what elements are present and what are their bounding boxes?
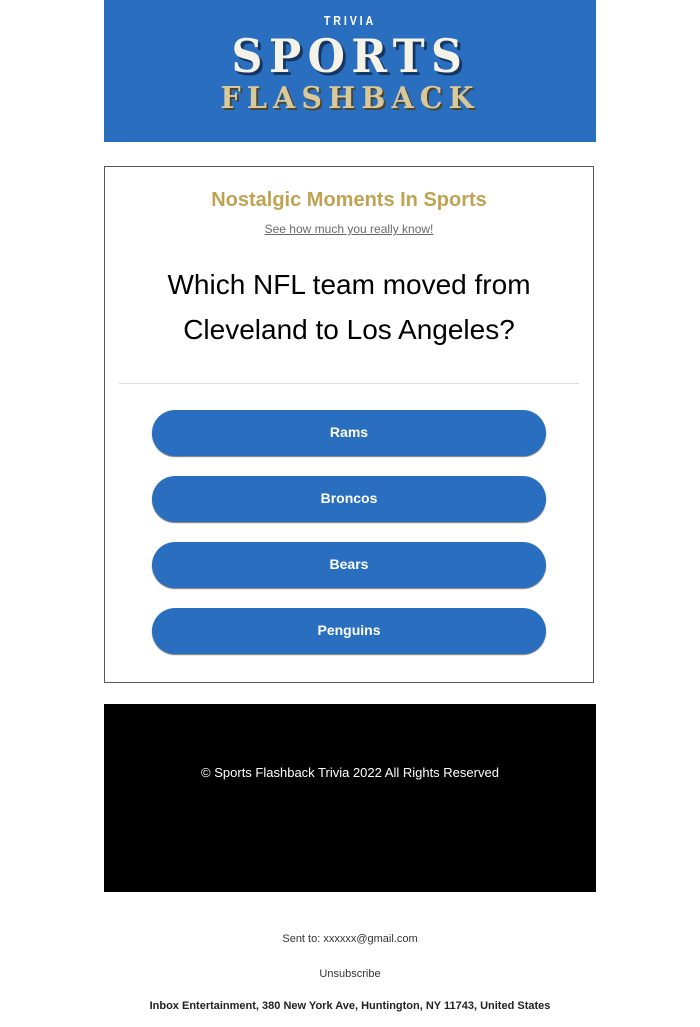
unsubscribe-link[interactable]: Unsubscribe	[319, 968, 380, 980]
sender-address: Inbox Entertainment, 380 New York Ave, H…	[104, 999, 596, 1013]
quiz-question: Which NFL team moved from Cleveland to L…	[143, 262, 555, 352]
logo-kicker-trivia: TRIVIA	[148, 14, 551, 28]
answer-button-2[interactable]: Broncos	[152, 476, 546, 522]
answer-button-4[interactable]: Penguins	[152, 608, 546, 654]
answer-button-1[interactable]: Rams	[152, 410, 546, 456]
answer-button-3[interactable]: Bears	[152, 542, 546, 588]
card-heading: Nostalgic Moments In Sports	[105, 188, 593, 212]
logo-word-flashback: FLASHBACK	[116, 83, 583, 115]
answer-options: Rams Broncos Bears Penguins	[105, 410, 593, 654]
card-subtitle: See how much you really know!	[105, 220, 593, 238]
footer-block: © Sports Flashback Trivia 2022 All Right…	[104, 704, 596, 892]
sent-to-text: Sent to: xxxxxx@gmail.com	[104, 932, 596, 946]
email-meta: Sent to: xxxxxx@gmail.com Unsubscribe In…	[104, 892, 596, 1013]
quiz-card: Nostalgic Moments In Sports See how much…	[104, 166, 594, 683]
unsubscribe-row: Unsubscribe	[104, 964, 596, 982]
brand-logo: TRIVIA SPORTS FLASHBACK	[104, 14, 596, 115]
brand-banner: TRIVIA SPORTS FLASHBACK	[104, 0, 596, 142]
card-divider	[119, 383, 579, 384]
logo-word-sports: SPORTS	[121, 32, 579, 80]
copyright-text: © Sports Flashback Trivia 2022 All Right…	[104, 704, 596, 781]
subtitle-link[interactable]: See how much you really know!	[265, 222, 434, 236]
email-body: TRIVIA SPORTS FLASHBACK Nostalgic Moment…	[104, 0, 596, 1013]
